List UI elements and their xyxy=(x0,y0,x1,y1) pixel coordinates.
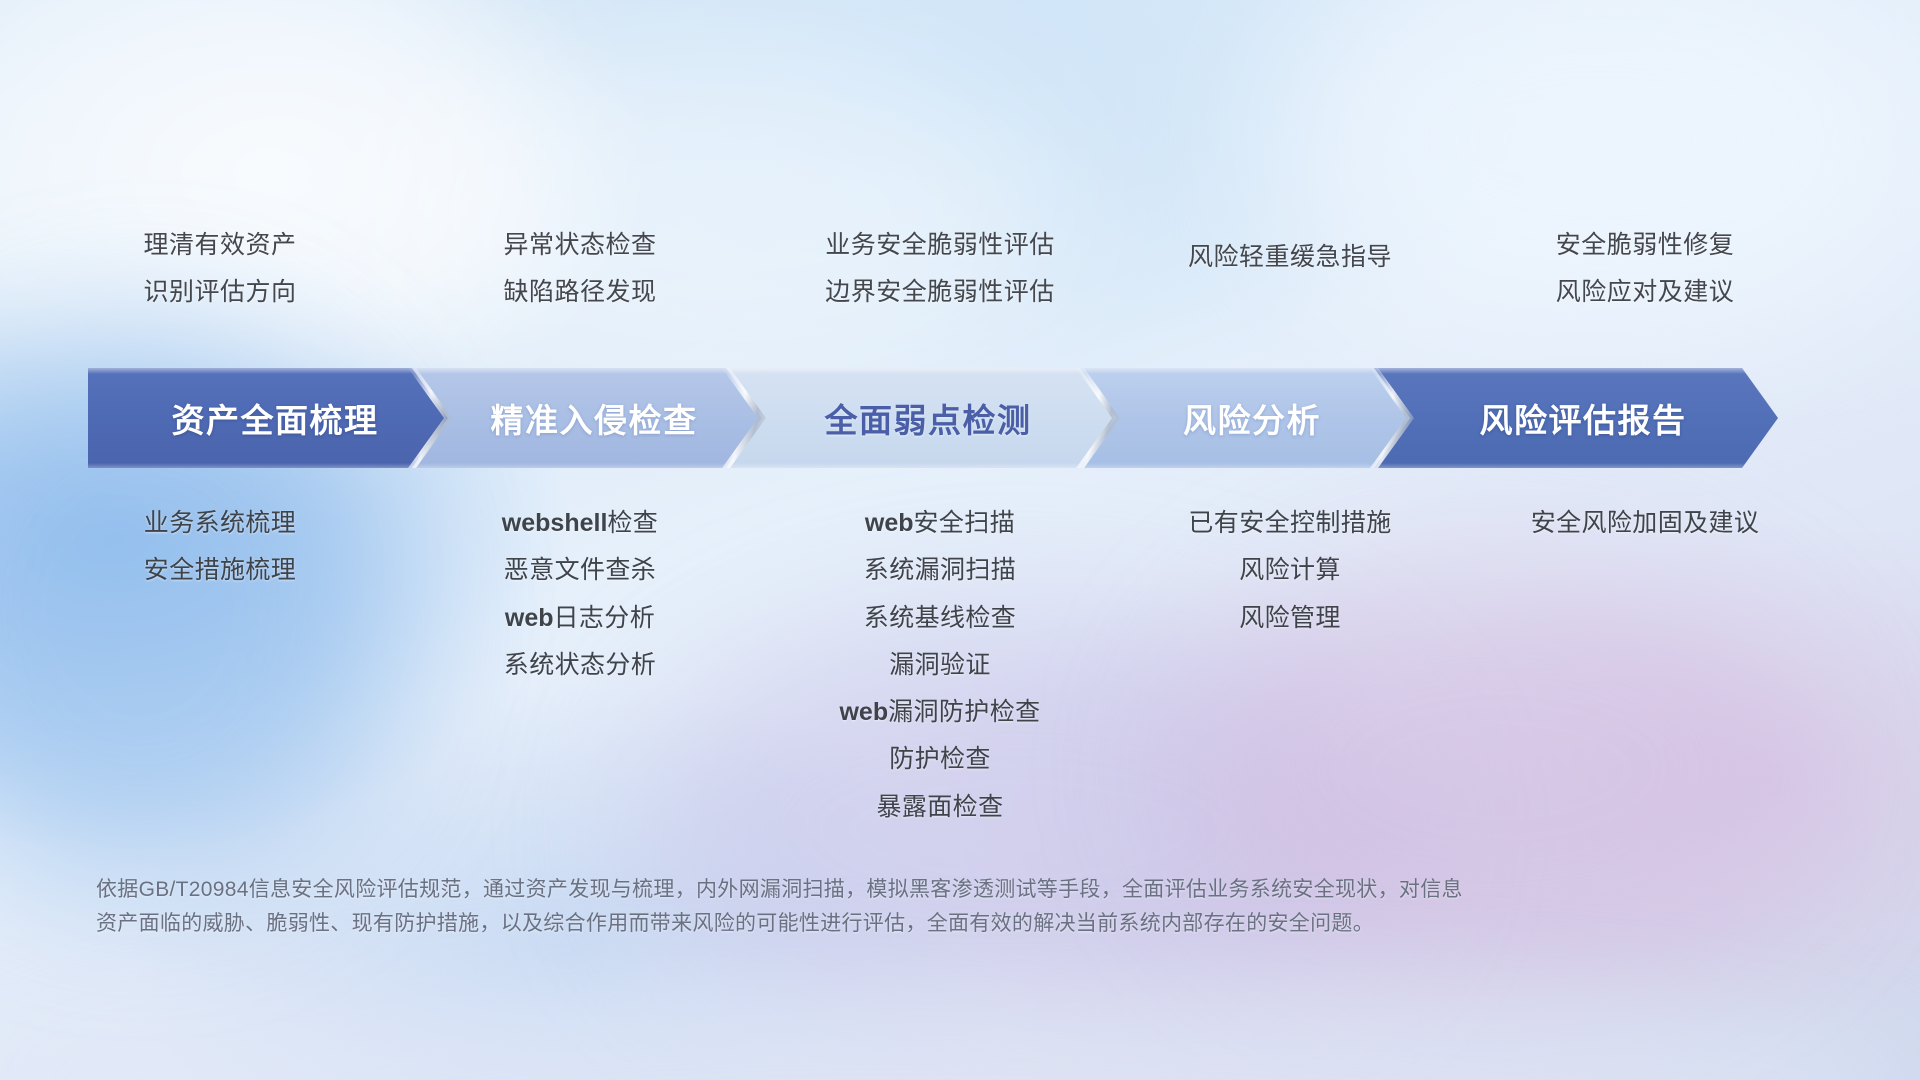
top-caption: 边界安全脆弱性评估 xyxy=(825,277,1055,308)
bottom-caption-latin: webshell xyxy=(502,509,608,537)
bottom-caption-column-asset-inventory: 业务系统梳理安全措施梳理 xyxy=(40,508,400,587)
bottom-caption-latin: web xyxy=(839,698,888,726)
bottom-caption-item: webshell检查 xyxy=(502,508,658,539)
bottom-caption-item: 风险管理 xyxy=(1239,603,1341,634)
bottom-caption-text: 漏洞防护检查 xyxy=(888,698,1040,726)
bottom-caption-item: 业务系统梳理 xyxy=(144,508,296,539)
footer-description: 依据GB/T20984信息安全风险评估规范，通过资产发现与梳理，内外网漏洞扫描，… xyxy=(96,873,1626,941)
bottom-caption-text: 日志分析 xyxy=(554,604,656,632)
bottom-caption-text: 检查 xyxy=(607,509,658,537)
top-caption: 风险应对及建议 xyxy=(1556,277,1735,308)
top-caption: 理清有效资产 xyxy=(143,230,296,261)
top-caption: 业务安全脆弱性评估 xyxy=(825,230,1055,261)
bottom-caption-item: 暴露面检查 xyxy=(876,792,1003,823)
bottom-caption-item: 风险计算 xyxy=(1239,555,1341,586)
footer-line-2: 资产面临的威胁、脆弱性、现有防护措施，以及综合作用而带来风险的可能性进行评估，全… xyxy=(96,907,1626,941)
bottom-caption-column-intrusion-check: webshell检查恶意文件查杀web日志分析系统状态分析 xyxy=(400,508,760,681)
bottom-caption-item: 系统基线检查 xyxy=(864,603,1016,634)
bottom-caption-item: 系统漏洞扫描 xyxy=(864,555,1016,586)
bottom-caption-item: 已有安全控制措施 xyxy=(1188,508,1391,539)
bottom-caption-text: 安全扫描 xyxy=(914,509,1016,537)
top-caption: 识别评估方向 xyxy=(143,277,296,308)
process-stage-label: 风险分析 xyxy=(1169,394,1321,442)
bottom-caption-item: web漏洞防护检查 xyxy=(839,697,1040,728)
bottom-caption-latin: web xyxy=(505,604,554,632)
bottom-caption-column-weakness-detection: web安全扫描系统漏洞扫描系统基线检查漏洞验证web漏洞防护检查防护检查暴露面检… xyxy=(760,508,1120,823)
bottom-caption-item: 安全措施梳理 xyxy=(144,555,296,586)
top-caption: 缺陷路径发现 xyxy=(503,277,656,308)
process-stage-label: 风险评估报告 xyxy=(1466,394,1687,442)
bottom-caption-item: 系统状态分析 xyxy=(504,650,656,681)
process-stage-label: 资产全面梳理 xyxy=(158,394,379,442)
top-caption: 安全脆弱性修复 xyxy=(1556,230,1735,261)
process-stage-risk-analysis[interactable]: 风险分析 xyxy=(1080,368,1410,468)
content-layer: 理清有效资产识别评估方向异常状态检查缺陷路径发现业务安全脆弱性评估边界安全脆弱性… xyxy=(0,0,1920,1080)
bottom-caption-item: 恶意文件查杀 xyxy=(504,555,656,586)
bottom-caption-column-risk-report: 安全风险加固及建议 xyxy=(1465,508,1825,539)
top-caption-column-weakness-detection: 业务安全脆弱性评估边界安全脆弱性评估 xyxy=(760,230,1120,309)
bottom-caption-latin: web xyxy=(865,509,914,537)
footer-line-1: 依据GB/T20984信息安全风险评估规范，通过资产发现与梳理，内外网漏洞扫描，… xyxy=(96,873,1626,907)
top-caption-column-asset-inventory: 理清有效资产识别评估方向 xyxy=(40,230,400,309)
top-caption-column-risk-analysis: 风险轻重缓急指导 xyxy=(1110,230,1470,273)
top-caption: 异常状态检查 xyxy=(503,230,656,261)
top-caption-column-intrusion-check: 异常状态检查缺陷路径发现 xyxy=(400,230,760,309)
process-stage-label: 精准入侵检查 xyxy=(477,394,698,442)
bottom-caption-item: web安全扫描 xyxy=(865,508,1015,539)
slide-canvas: 理清有效资产识别评估方向异常状态检查缺陷路径发现业务安全脆弱性评估边界安全脆弱性… xyxy=(0,0,1920,1080)
bottom-caption-item: 漏洞验证 xyxy=(889,650,991,681)
process-stage-intrusion-check[interactable]: 精准入侵检查 xyxy=(412,368,762,468)
process-stage-weakness-detection[interactable]: 全面弱点检测 xyxy=(726,368,1116,468)
top-caption: 风险轻重缓急指导 xyxy=(1188,242,1392,273)
top-caption-column-risk-report: 安全脆弱性修复风险应对及建议 xyxy=(1465,230,1825,309)
bottom-caption-column-risk-analysis: 已有安全控制措施风险计算风险管理 xyxy=(1110,508,1470,634)
process-stage-risk-report[interactable]: 风险评估报告 xyxy=(1374,368,1778,468)
bottom-caption-item: web日志分析 xyxy=(505,603,655,634)
process-stage-asset-inventory[interactable]: 资产全面梳理 xyxy=(88,368,448,468)
process-stage-label: 全面弱点检测 xyxy=(811,394,1032,442)
bottom-caption-item: 安全风险加固及建议 xyxy=(1531,508,1760,539)
process-flow-ribbon: 资产全面梳理精准入侵检查全面弱点检测风险分析风险评估报告 xyxy=(88,368,1850,468)
bottom-caption-item: 防护检查 xyxy=(889,744,991,775)
